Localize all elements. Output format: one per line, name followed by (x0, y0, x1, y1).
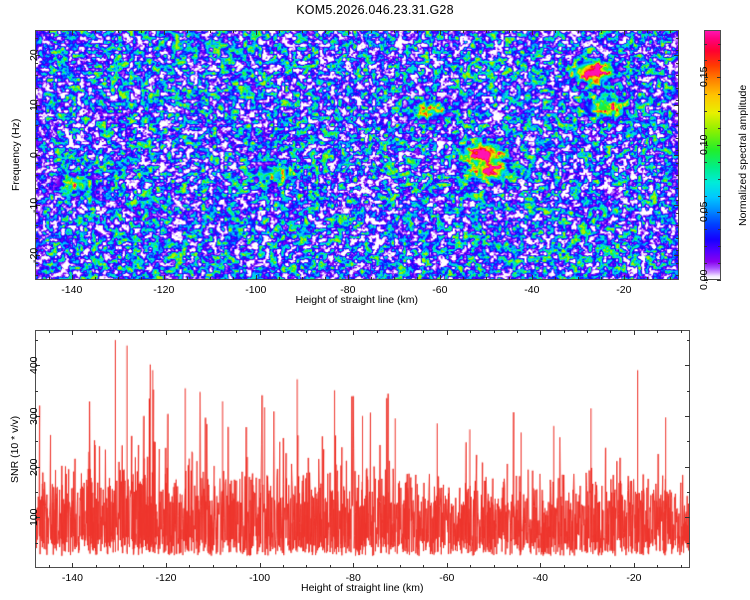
colorbar-minor-tick (704, 94, 707, 95)
spectrogram-x-minor-tick (394, 277, 395, 280)
snr-y-axis-label: SNR (10 * v/v) (9, 415, 21, 482)
spectrogram-y-minor-tick-right (676, 200, 679, 201)
snr-x-minor-tick-top (143, 330, 144, 333)
snr-y-minor-tick-right (687, 391, 690, 392)
colorbar-tick-label: 0.15 (698, 67, 710, 87)
colorbar-minor-tick (704, 44, 707, 45)
figure-root: KOM5.2026.046.23.31.G28 -140-120-100-80-… (0, 0, 750, 600)
snr-x-minor-tick (213, 565, 214, 568)
snr-x-minor-tick (494, 565, 495, 568)
spectrogram-x-minor-tick-top (141, 30, 142, 33)
colorbar-minor-tick (704, 162, 707, 163)
spectrogram-y-minor-tick-right (676, 263, 679, 264)
colorbar-minor-tick-right (718, 179, 721, 180)
snr-y-minor-tick (35, 492, 38, 493)
snr-y-minor-tick (35, 340, 38, 341)
spectrogram-x-minor-tick (325, 277, 326, 280)
spectrogram-y-minor-tick (35, 238, 38, 239)
snr-x-axis-label: Height of straight line (km) (301, 582, 424, 594)
spectrogram-x-minor-tick (509, 277, 510, 280)
spectrogram-x-minor-tick (670, 277, 671, 280)
spectrogram-x-tick (72, 275, 73, 280)
spectrogram-y-axis-label: Frequency (Hz) (10, 119, 22, 191)
spectrogram-panel (35, 30, 679, 280)
snr-y-tick-label: 200 (28, 458, 40, 476)
colorbar-minor-tick-right (718, 60, 721, 61)
colorbar-minor-tick (704, 179, 707, 180)
spectrogram-y-minor-tick (35, 163, 38, 164)
snr-y-minor-tick-right (687, 543, 690, 544)
snr-x-minor-tick-top (657, 330, 658, 333)
spectrogram-x-minor-tick-top (601, 30, 602, 33)
spectrogram-y-tick-label: 20 (28, 49, 40, 61)
snr-x-minor-tick (330, 565, 331, 568)
spectrogram-x-minor-tick (118, 277, 119, 280)
spectrogram-y-minor-tick-right (676, 188, 679, 189)
spectrogram-x-minor-tick-top (210, 30, 211, 33)
spectrogram-x-minor-tick (463, 277, 464, 280)
spectrogram-y-minor-tick-right (676, 63, 679, 64)
spectrogram-y-minor-tick-right (676, 225, 679, 226)
spectrogram-y-minor-tick-right (676, 163, 679, 164)
spectrogram-y-tick-label: -10 (28, 197, 40, 212)
snr-x-tick-top (447, 330, 448, 335)
snr-x-tick-label: -140 (62, 572, 83, 584)
spectrogram-x-tick (624, 275, 625, 280)
spectrogram-y-minor-tick (35, 250, 38, 251)
snr-y-minor-tick (35, 543, 38, 544)
spectrogram-y-minor-tick-right (676, 50, 679, 51)
colorbar-minor-tick-right (718, 94, 721, 95)
colorbar-minor-tick-right (718, 44, 721, 45)
snr-x-tick-label: -20 (626, 572, 641, 584)
spectrogram-x-minor-tick (187, 277, 188, 280)
spectrogram-y-minor-tick-right (676, 100, 679, 101)
colorbar-minor-tick (704, 145, 707, 146)
figure-title: KOM5.2026.046.23.31.G28 (0, 3, 750, 17)
colorbar-minor-tick (704, 111, 707, 112)
spectrogram-y-minor-tick (35, 188, 38, 189)
colorbar-minor-tick-right (718, 229, 721, 230)
colorbar-minor-tick-right (718, 263, 721, 264)
spectrogram-x-tick (532, 275, 533, 280)
spectrogram-y-minor-tick (35, 200, 38, 201)
spectrogram-x-minor-tick (49, 277, 50, 280)
snr-y-minor-tick-right (687, 340, 690, 341)
snr-x-tick-top (353, 330, 354, 335)
snr-x-minor-tick (657, 565, 658, 568)
snr-x-minor-tick-top (236, 330, 237, 333)
spectrogram-x-minor-tick-top (325, 30, 326, 33)
colorbar-minor-tick (704, 229, 707, 230)
snr-x-minor-tick (236, 565, 237, 568)
spectrogram-y-minor-tick-right (676, 275, 679, 276)
snr-x-tick (540, 563, 541, 568)
spectrogram-x-tick-top (72, 30, 73, 35)
spectrogram-y-minor-tick-right (676, 213, 679, 214)
spectrogram-x-minor-tick (233, 277, 234, 280)
spectrogram-y-tick-right (674, 105, 679, 106)
colorbar-tick-right (717, 280, 721, 281)
spectrogram-x-tick-top (624, 30, 625, 35)
snr-y-minor-tick-right (687, 492, 690, 493)
spectrogram-y-minor-tick (35, 175, 38, 176)
spectrogram-x-minor-tick-top (555, 30, 556, 33)
spectrogram-x-minor-tick (601, 277, 602, 280)
snr-x-minor-tick-top (283, 330, 284, 333)
spectrogram-x-minor-tick (302, 277, 303, 280)
snr-trace (36, 331, 689, 567)
spectrogram-y-minor-tick (35, 63, 38, 64)
snr-y-tick-right (685, 467, 690, 468)
colorbar-minor-tick (704, 60, 707, 61)
snr-y-minor-tick (35, 441, 38, 442)
colorbar-minor-tick-right (718, 162, 721, 163)
snr-x-tick-label: -100 (249, 572, 270, 584)
snr-y-tick-label: 100 (28, 509, 40, 527)
snr-x-minor-tick-top (564, 330, 565, 333)
spectrogram-y-minor-tick (35, 138, 38, 139)
snr-y-minor-tick-right (687, 441, 690, 442)
snr-x-minor-tick (143, 565, 144, 568)
snr-x-minor-tick (283, 565, 284, 568)
snr-x-tick-label: -120 (156, 572, 177, 584)
snr-x-minor-tick (610, 565, 611, 568)
snr-x-minor-tick-top (681, 330, 682, 333)
spectrogram-y-minor-tick (35, 113, 38, 114)
spectrogram-x-minor-tick-top (578, 30, 579, 33)
spectrogram-y-minor-tick-right (676, 113, 679, 114)
spectrogram-y-minor-tick (35, 263, 38, 264)
snr-x-minor-tick (119, 565, 120, 568)
colorbar-minor-tick (704, 263, 707, 264)
snr-x-minor-tick-top (306, 330, 307, 333)
spectrogram-x-tick-top (348, 30, 349, 35)
snr-panel (35, 330, 690, 568)
spectrogram-x-minor-tick (417, 277, 418, 280)
snr-x-minor-tick (681, 565, 682, 568)
spectrogram-x-minor-tick-top (509, 30, 510, 33)
snr-x-minor-tick (400, 565, 401, 568)
snr-y-tick-label: 400 (28, 357, 40, 375)
spectrogram-y-minor-tick (35, 225, 38, 226)
spectrogram-y-tick-right (674, 205, 679, 206)
snr-x-tick (72, 563, 73, 568)
spectrogram-x-tick (164, 275, 165, 280)
spectrogram-y-tick-right (674, 155, 679, 156)
spectrogram-x-minor-tick-top (279, 30, 280, 33)
spectrogram-x-minor-tick (555, 277, 556, 280)
colorbar-minor-tick (704, 246, 707, 247)
snr-x-tick-top (72, 330, 73, 335)
spectrogram-x-minor-tick-top (95, 30, 96, 33)
spectrogram-y-tick-right (674, 255, 679, 256)
spectrogram-x-tick-label: -120 (153, 284, 174, 296)
snr-x-minor-tick (306, 565, 307, 568)
spectrogram-y-minor-tick (35, 100, 38, 101)
colorbar-minor-tick-right (718, 246, 721, 247)
spectrogram-y-minor-tick-right (676, 138, 679, 139)
colorbar-tick-label: 0.00 (698, 270, 710, 290)
snr-x-tick (447, 563, 448, 568)
spectrogram-x-tick (440, 275, 441, 280)
snr-x-minor-tick (470, 565, 471, 568)
colorbar-minor-tick-right (718, 111, 721, 112)
snr-x-minor-tick-top (400, 330, 401, 333)
snr-x-minor-tick-top (470, 330, 471, 333)
spectrogram-y-minor-tick (35, 88, 38, 89)
spectrogram-y-minor-tick-right (676, 75, 679, 76)
spectrogram-x-tick-label: -140 (61, 284, 82, 296)
spectrogram-x-minor-tick-top (463, 30, 464, 33)
spectrogram-x-minor-tick-top (233, 30, 234, 33)
colorbar-minor-tick (704, 196, 707, 197)
snr-y-tick-right (685, 517, 690, 518)
spectrogram-y-tick-label: 10 (28, 99, 40, 111)
snr-x-tick-label: -60 (439, 572, 454, 584)
spectrogram-y-minor-tick-right (676, 38, 679, 39)
spectrogram-x-tick-label: -100 (245, 284, 266, 296)
spectrogram-x-tick-label: -60 (432, 284, 447, 296)
spectrogram-x-minor-tick-top (486, 30, 487, 33)
snr-x-minor-tick-top (96, 330, 97, 333)
colorbar-minor-tick-right (718, 145, 721, 146)
spectrogram-x-minor-tick (578, 277, 579, 280)
snr-x-minor-tick (517, 565, 518, 568)
snr-x-tick-top (166, 330, 167, 335)
snr-x-minor-tick-top (330, 330, 331, 333)
snr-x-minor-tick-top (377, 330, 378, 333)
snr-x-tick-label: -40 (533, 572, 548, 584)
spectrogram-y-minor-tick-right (676, 238, 679, 239)
spectrogram-y-tick-right (674, 55, 679, 56)
spectrogram-x-minor-tick-top (417, 30, 418, 33)
snr-x-tick (166, 563, 167, 568)
spectrogram-x-minor-tick-top (302, 30, 303, 33)
spectrogram-y-minor-tick (35, 50, 38, 51)
spectrogram-x-tick-top (164, 30, 165, 35)
snr-x-minor-tick (377, 565, 378, 568)
spectrogram-x-minor-tick-top (394, 30, 395, 33)
spectrogram-x-minor-tick (95, 277, 96, 280)
snr-x-minor-tick-top (587, 330, 588, 333)
spectrogram-y-minor-tick (35, 75, 38, 76)
snr-y-tick-right (685, 416, 690, 417)
spectrogram-x-tick-label: -20 (616, 284, 631, 296)
snr-x-minor-tick (564, 565, 565, 568)
snr-x-minor-tick (49, 565, 50, 568)
spectrogram-x-minor-tick (647, 277, 648, 280)
spectrogram-x-tick-top (440, 30, 441, 35)
snr-x-tick (260, 563, 261, 568)
spectrogram-y-minor-tick (35, 213, 38, 214)
snr-x-tick (353, 563, 354, 568)
spectrogram-y-minor-tick (35, 275, 38, 276)
snr-x-tick-top (260, 330, 261, 335)
spectrogram-y-tick-label: 0 (28, 152, 40, 158)
snr-x-minor-tick-top (494, 330, 495, 333)
spectrogram-x-minor-tick (210, 277, 211, 280)
snr-x-minor-tick-top (189, 330, 190, 333)
spectrogram-y-minor-tick (35, 38, 38, 39)
spectrogram-x-tick-label: -40 (524, 284, 539, 296)
colorbar-minor-tick-right (718, 128, 721, 129)
snr-x-minor-tick-top (49, 330, 50, 333)
spectrogram-x-minor-tick-top (49, 30, 50, 33)
spectrogram-x-axis-label: Height of straight line (km) (296, 294, 419, 306)
snr-y-tick-label: 300 (28, 408, 40, 426)
spectrogram-y-tick-label: -20 (28, 247, 40, 262)
spectrogram-x-minor-tick (141, 277, 142, 280)
snr-x-minor-tick-top (423, 330, 424, 333)
snr-y-tick-right (685, 365, 690, 366)
spectrogram-x-tick-top (256, 30, 257, 35)
spectrogram-x-tick (256, 275, 257, 280)
snr-y-minor-tick (35, 391, 38, 392)
snr-x-tick-top (634, 330, 635, 335)
spectrogram-y-minor-tick-right (676, 250, 679, 251)
spectrogram-y-minor-tick-right (676, 125, 679, 126)
spectrogram-y-minor-tick-right (676, 150, 679, 151)
spectrogram-x-minor-tick-top (187, 30, 188, 33)
colorbar-tick-right (717, 212, 721, 213)
spectrogram-x-minor-tick (371, 277, 372, 280)
colorbar-tick-label: 0.05 (698, 202, 710, 222)
spectrogram-x-minor-tick (486, 277, 487, 280)
spectrogram-image (36, 31, 678, 279)
spectrogram-x-minor-tick-top (118, 30, 119, 33)
snr-x-minor-tick-top (119, 330, 120, 333)
snr-x-minor-tick-top (517, 330, 518, 333)
snr-x-minor-tick-top (213, 330, 214, 333)
spectrogram-x-tick-top (532, 30, 533, 35)
colorbar-tick-right (717, 77, 721, 78)
snr-x-minor-tick (96, 565, 97, 568)
snr-x-tick-top (540, 330, 541, 335)
spectrogram-y-minor-tick-right (676, 88, 679, 89)
spectrogram-x-minor-tick-top (647, 30, 648, 33)
snr-x-minor-tick-top (610, 330, 611, 333)
spectrogram-x-minor-tick-top (670, 30, 671, 33)
snr-x-minor-tick (423, 565, 424, 568)
spectrogram-x-tick (348, 275, 349, 280)
spectrogram-x-minor-tick-top (371, 30, 372, 33)
snr-x-tick (634, 563, 635, 568)
colorbar-label: Normalized spectral amplitude (737, 84, 749, 225)
spectrogram-y-minor-tick-right (676, 175, 679, 176)
colorbar-minor-tick-right (718, 196, 721, 197)
snr-x-minor-tick (189, 565, 190, 568)
spectrogram-y-minor-tick (35, 125, 38, 126)
spectrogram-x-minor-tick (279, 277, 280, 280)
snr-x-minor-tick (587, 565, 588, 568)
spectrogram-y-minor-tick (35, 150, 38, 151)
colorbar-minor-tick (704, 128, 707, 129)
